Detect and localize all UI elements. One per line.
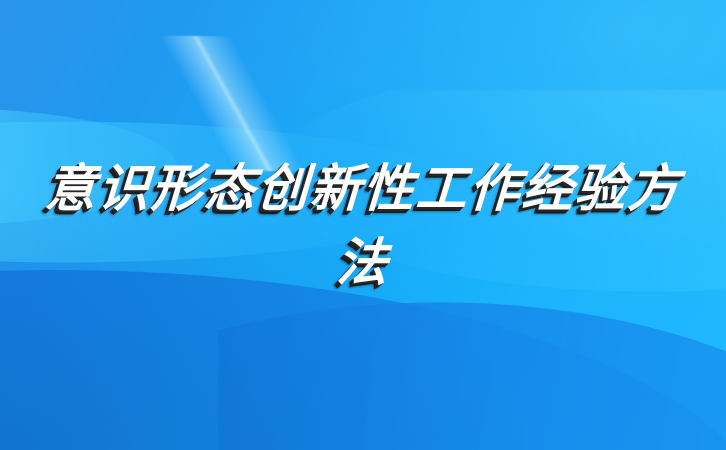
title-slide: 意识形态创新性工作经验方 法 (0, 0, 726, 450)
background-specular-streak (0, 36, 494, 171)
title-line-2: 法 (0, 226, 726, 300)
page-title: 意识形态创新性工作经验方 法 (0, 152, 726, 300)
title-line-1: 意识形态创新性工作经验方 (0, 152, 726, 226)
